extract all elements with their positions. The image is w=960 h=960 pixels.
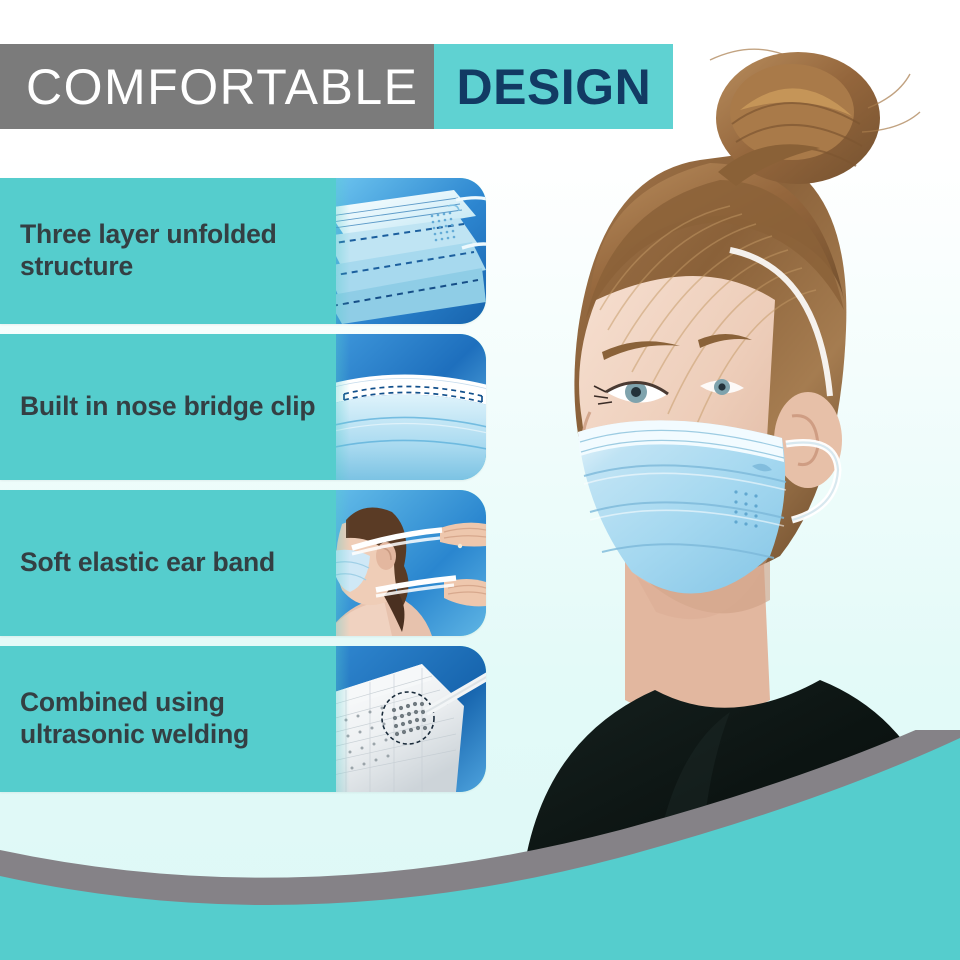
feature-card-list: Three layer unfolded structure <box>0 178 492 802</box>
bottom-curved-gray-teal-swoosh <box>0 730 960 960</box>
header-title-part2: DESIGN <box>434 44 673 129</box>
nose-bridge-clip-photo <box>336 334 486 480</box>
feature-card-nose-bridge[interactable]: Built in nose bridge clip <box>0 334 486 480</box>
swoosh-teal-fill <box>0 730 960 960</box>
feature-label-ear-band: Soft elastic ear band <box>0 547 350 579</box>
header-title-bar: COMFORTABLE DESIGN <box>0 44 673 129</box>
feature-label-three-layer: Three layer unfolded structure <box>0 219 350 283</box>
unfolded-mask-layers-photo <box>336 178 486 324</box>
infographic-poster: COMFORTABLE DESIGN Three layer unfolded … <box>0 0 960 960</box>
feature-card-three-layer[interactable]: Three layer unfolded structure <box>0 178 486 324</box>
feature-label-nose-bridge: Built in nose bridge clip <box>0 391 350 423</box>
header-title-part1: COMFORTABLE <box>0 44 434 129</box>
woman-adjusting-ear-band-photo <box>336 490 486 636</box>
feature-card-ear-band[interactable]: Soft elastic ear band <box>0 490 486 636</box>
